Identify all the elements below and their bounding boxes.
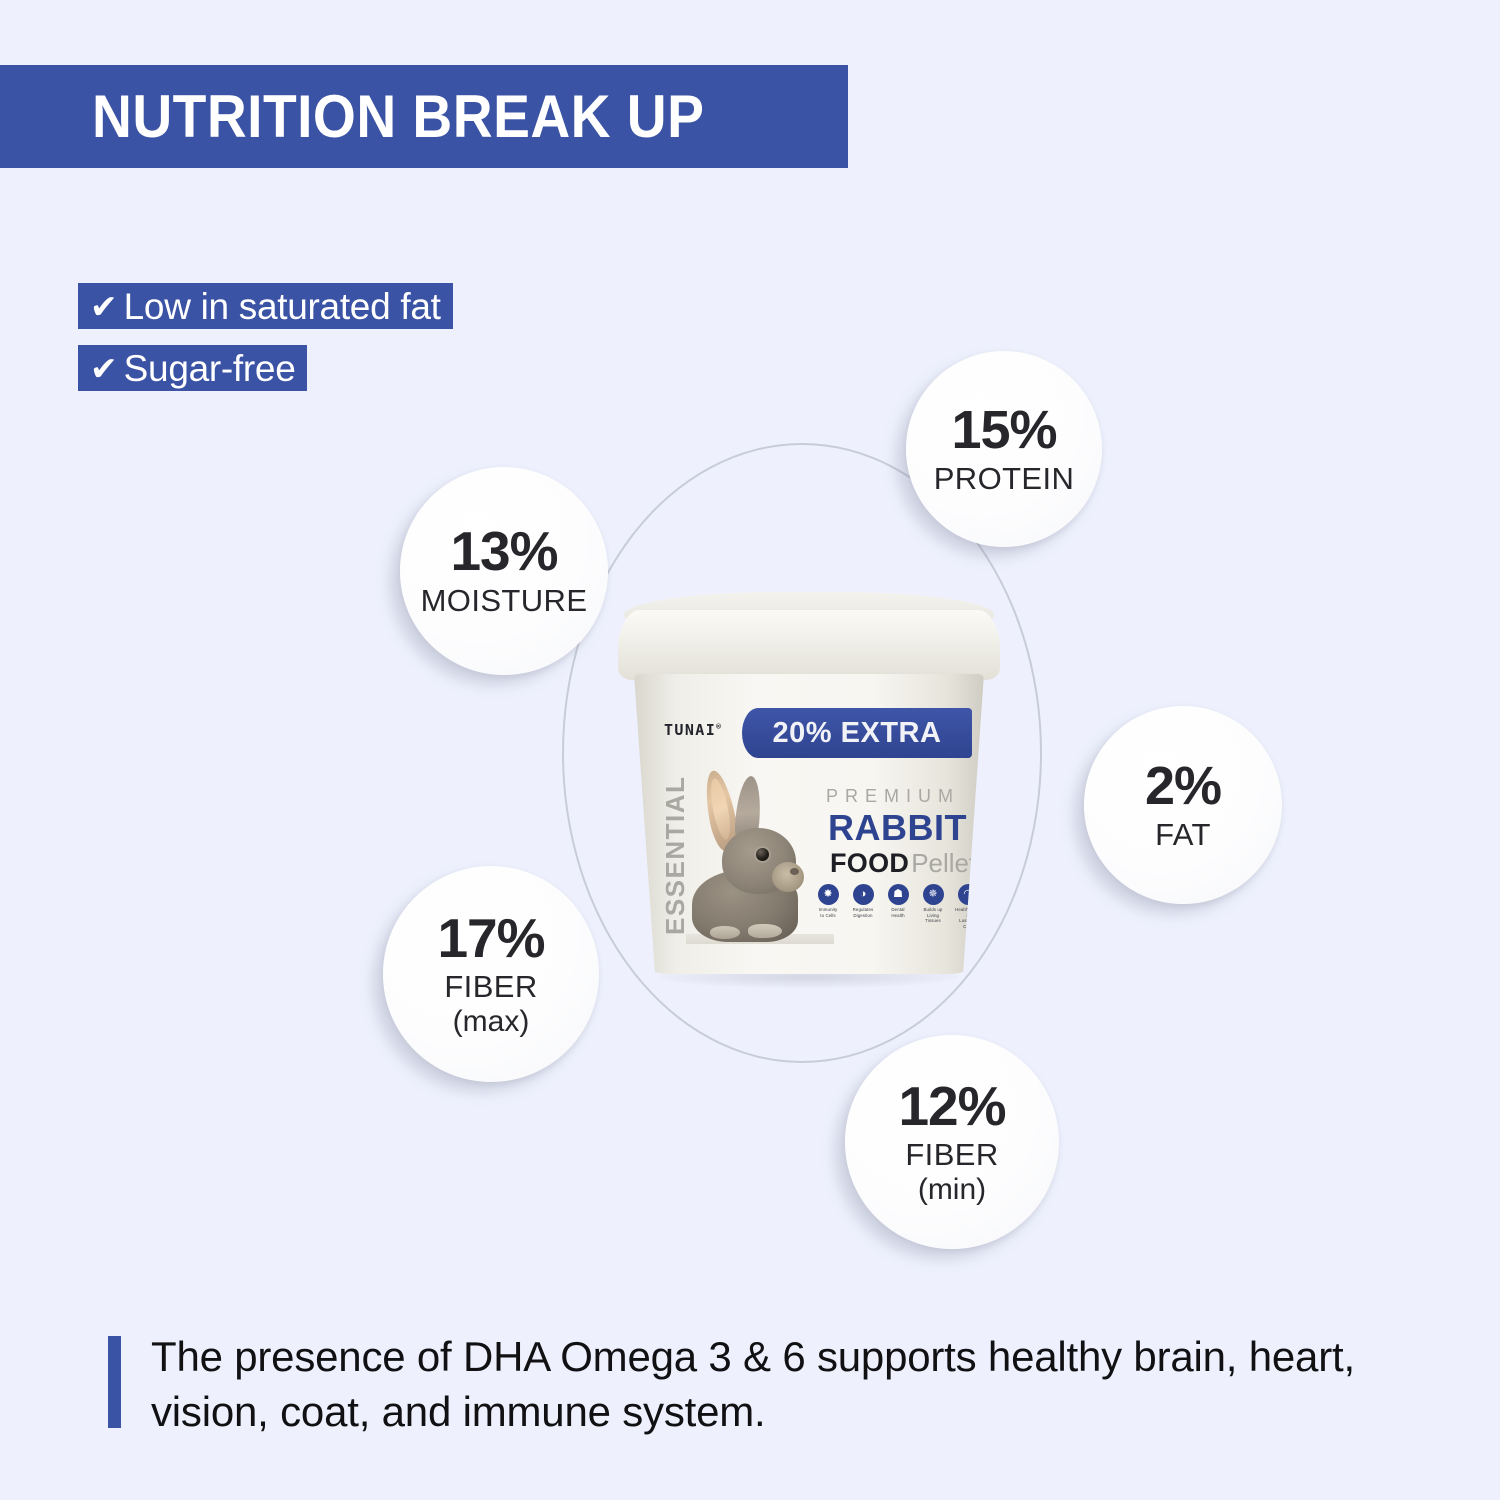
benefit-label: Immunity to Cells xyxy=(819,907,838,918)
nutrient-value: 2% xyxy=(1145,759,1221,813)
rabbit-eye-icon xyxy=(756,848,769,861)
footer-accent-bar xyxy=(108,1336,121,1428)
nutrient-bubble-fiber-min: 12% FIBER (min) xyxy=(845,1035,1059,1249)
product-subtitle: FOOD Pellets xyxy=(830,850,984,877)
stomach-icon: ◑ xyxy=(853,884,874,905)
muscle-icon: ✵ xyxy=(923,884,944,905)
footer-note: The presence of DHA Omega 3 & 6 supports… xyxy=(108,1330,1381,1439)
nutrient-name: MOISTURE xyxy=(421,585,588,618)
nutrient-bubble-fiber-max: 17% FIBER (max) xyxy=(383,866,599,1082)
benefit-label: Dental Health xyxy=(891,907,904,918)
tub-body: TUNAI® 20% EXTRA ESSENTIAL PREMIUM RABBI… xyxy=(634,674,984,974)
coat-icon: ◠ xyxy=(958,884,979,905)
nutrient-value: 12% xyxy=(898,1079,1005,1134)
feature-label: Sugar-free xyxy=(124,350,296,387)
extra-promo-label: 20% EXTRA xyxy=(773,717,942,750)
benefit-badge-immunity: ✸ Immunity to Cells xyxy=(814,884,842,929)
extra-promo-banner: 20% EXTRA xyxy=(742,708,972,758)
rabbit-nose-icon xyxy=(790,868,799,875)
benefit-badge-dental: ☗ Dental Health xyxy=(884,884,912,929)
rabbit-photo xyxy=(686,766,834,944)
feature-list: ✔ Low in saturated fat ✔ Sugar-free xyxy=(78,283,453,407)
product-name-label: RABBIT xyxy=(828,810,967,846)
nutrient-name: FAT xyxy=(1155,819,1211,852)
essential-side-text: ESSENTIAL xyxy=(660,770,688,940)
nutrient-qualifier: (min) xyxy=(918,1174,986,1206)
nutrient-bubble-moisture: 13% MOISTURE xyxy=(400,467,608,675)
nutrient-bubble-fat: 2% FAT xyxy=(1084,706,1282,904)
immunity-icon: ✸ xyxy=(818,884,839,905)
nutrient-value: 13% xyxy=(450,524,557,579)
benefit-badge-list: ✸ Immunity to Cells ◑ Regulates Digestio… xyxy=(814,884,982,929)
benefit-badge-digestion: ◑ Regulates Digestion xyxy=(849,884,877,929)
nutrient-value: 15% xyxy=(951,403,1056,457)
nutrient-value: 17% xyxy=(437,911,544,966)
check-icon: ✔ xyxy=(90,290,118,323)
nutrient-name: PROTEIN xyxy=(934,463,1075,496)
brand-name: TUNAI xyxy=(664,721,716,739)
page-title: NUTRITION BREAK UP xyxy=(92,87,704,147)
benefit-label: Builds up Living Tissues xyxy=(919,907,947,924)
feature-row: ✔ Low in saturated fat xyxy=(78,283,453,345)
check-icon: ✔ xyxy=(90,352,118,385)
tooth-icon: ☗ xyxy=(888,884,909,905)
food-word-label: FOOD xyxy=(830,850,909,877)
nutrient-qualifier: (max) xyxy=(453,1006,530,1038)
feature-label: Low in saturated fat xyxy=(124,288,441,325)
feature-item-sugar-free: ✔ Sugar-free xyxy=(78,345,307,391)
pellets-word-label: Pellets xyxy=(911,850,984,876)
premium-label: PREMIUM xyxy=(826,786,960,807)
feature-item-low-saturated-fat: ✔ Low in saturated fat xyxy=(78,283,453,329)
rabbit-muzzle-icon xyxy=(772,862,804,892)
header-banner: NUTRITION BREAK UP xyxy=(0,65,848,168)
rabbit-paw-front-icon xyxy=(748,924,782,938)
nutrient-name: FIBER xyxy=(905,1139,998,1172)
nutrient-name: FIBER xyxy=(444,971,537,1004)
footer-note-text: The presence of DHA Omega 3 & 6 supports… xyxy=(151,1330,1381,1439)
benefit-badge-coat: ◠ Healthy Skin & Lustrous Coat xyxy=(954,884,982,929)
benefit-label: Regulates Digestion xyxy=(853,907,874,918)
nutrient-bubble-protein: 15% PROTEIN xyxy=(906,351,1102,547)
brand-logo: TUNAI® xyxy=(664,721,722,739)
trademark-icon: ® xyxy=(716,722,722,731)
tub-lid-rim xyxy=(618,610,1000,680)
benefit-badge-tissues: ✵ Builds up Living Tissues xyxy=(919,884,947,929)
feature-row: ✔ Sugar-free xyxy=(78,345,453,407)
benefit-label: Healthy Skin & Lustrous Coat xyxy=(954,907,982,929)
rabbit-paw-rear-icon xyxy=(710,926,740,939)
product-tub-image: TUNAI® 20% EXTRA ESSENTIAL PREMIUM RABBI… xyxy=(618,592,1000,987)
